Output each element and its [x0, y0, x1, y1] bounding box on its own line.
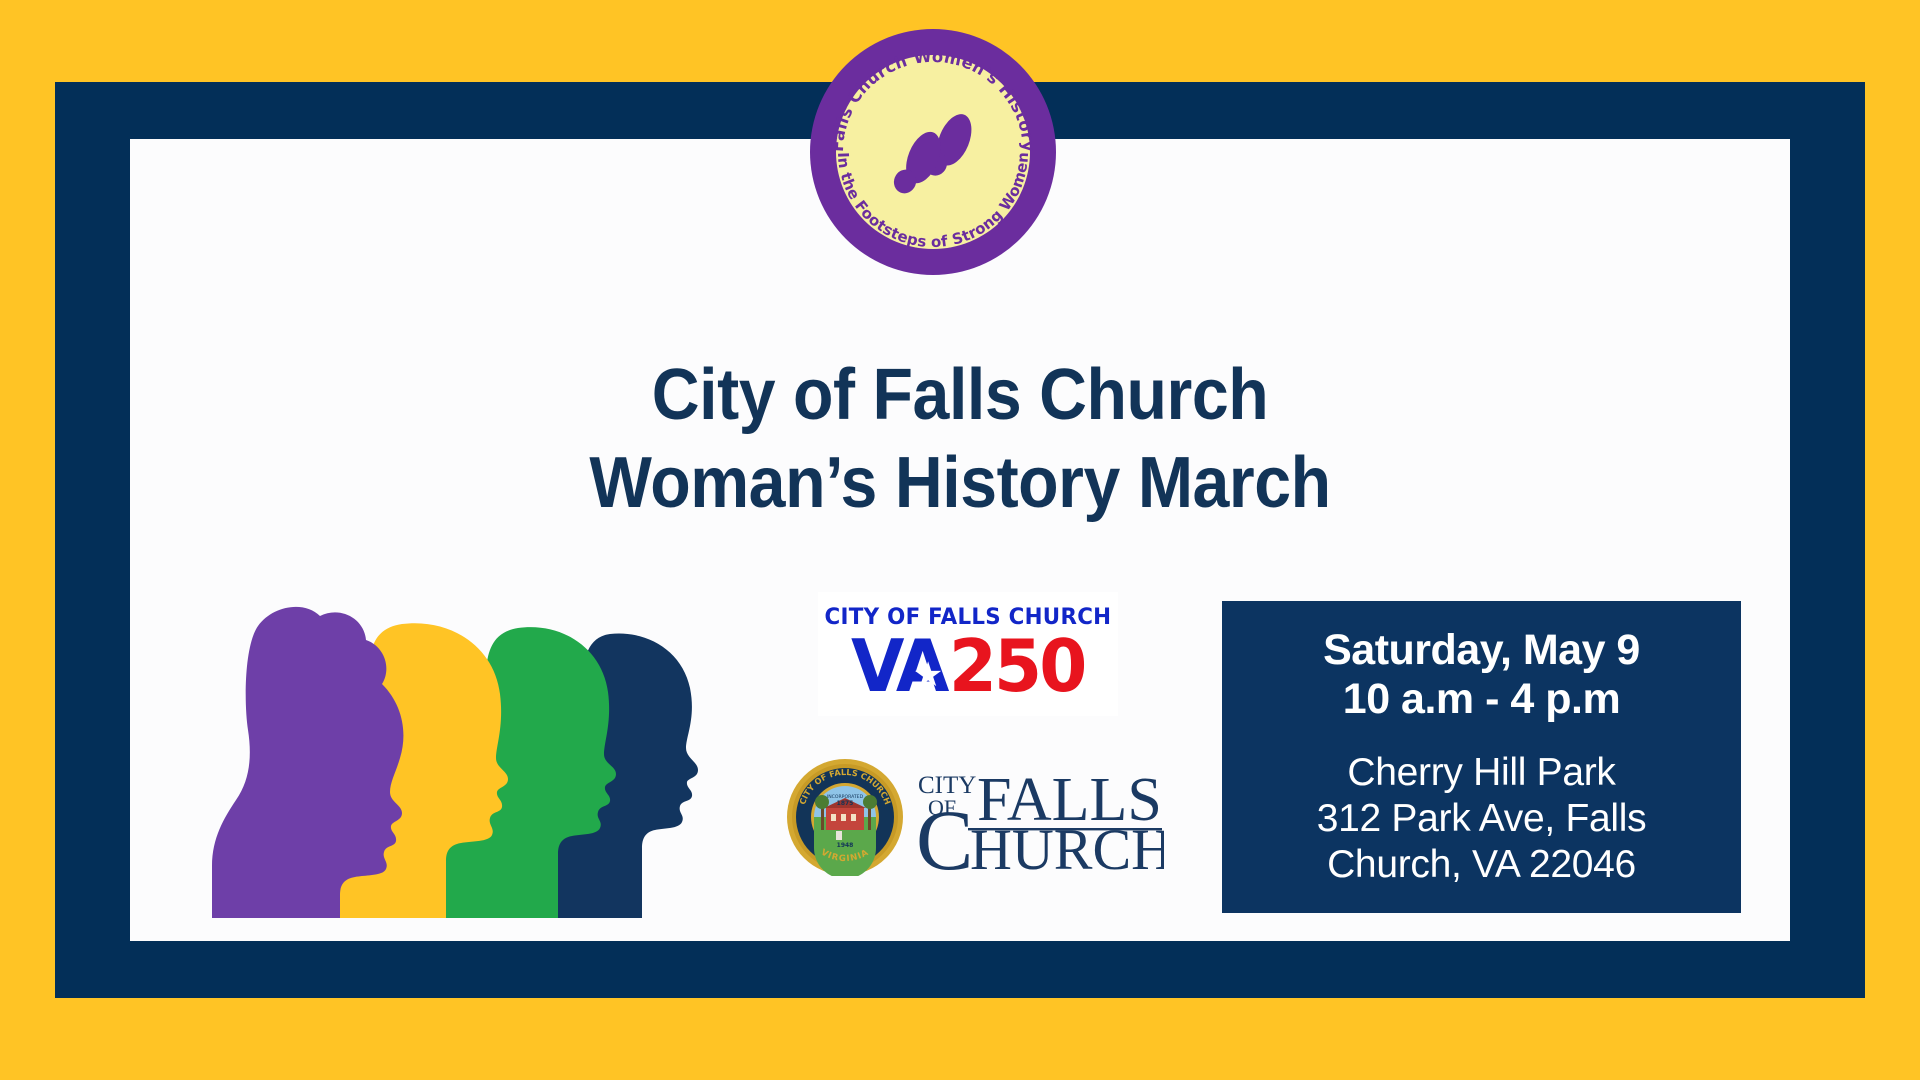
seal-incorporated-year: 1875: [837, 800, 854, 807]
event-time: 10 a.m - 4 p.m: [1323, 675, 1640, 724]
wordmark-c: C: [916, 792, 973, 877]
title-line-1: City of Falls Church: [196, 352, 1723, 440]
city-seal-icon: INCORPORATED 1875 1948 CITY OF FALLS CHU…: [786, 758, 904, 876]
seal-secondary-year: 1948: [837, 842, 854, 849]
title-line-2: Woman’s History March: [196, 440, 1723, 528]
silhouette-purple: [212, 607, 403, 918]
star-icon: ★: [911, 658, 945, 692]
va250-logo: CITY OF FALLS CHURCH VA 250 ★: [818, 592, 1118, 716]
event-date: Saturday, May 9: [1323, 626, 1640, 675]
badge-artwork: Falls Church Women's History In the Foot…: [810, 29, 1056, 275]
event-location: Cherry Hill Park 312 Park Ave, Falls Chu…: [1317, 750, 1647, 888]
va250-wordmark: VA 250 ★: [849, 630, 1087, 702]
wordmark-hurch: HURCH: [970, 817, 1164, 877]
women-profiles-illustration: [158, 596, 758, 918]
va250-number-text: 250: [948, 630, 1084, 702]
city-wordmark-art: CITY OF FALLS C HURCH: [914, 757, 1164, 877]
women-profiles-icon: [158, 596, 758, 918]
event-address-line-2: Church, VA 22046: [1317, 842, 1647, 888]
event-datetime: Saturday, May 9 10 a.m - 4 p.m: [1323, 626, 1640, 724]
event-details-box: Saturday, May 9 10 a.m - 4 p.m Cherry Hi…: [1222, 601, 1741, 913]
event-address-line-1: 312 Park Ave, Falls: [1317, 796, 1647, 842]
footsteps-icon: [890, 99, 978, 209]
flyer-poster: Falls Church Women's History In the Foot…: [0, 0, 1920, 1080]
event-venue: Cherry Hill Park: [1317, 750, 1647, 796]
womens-history-badge: Falls Church Women's History In the Foot…: [810, 29, 1056, 275]
page-title: City of Falls Church Woman’s History Mar…: [196, 352, 1723, 528]
city-wordmark: CITY OF FALLS C HURCH: [914, 757, 1164, 877]
city-of-falls-church-logo: INCORPORATED 1875 1948 CITY OF FALLS CHU…: [786, 752, 1166, 882]
